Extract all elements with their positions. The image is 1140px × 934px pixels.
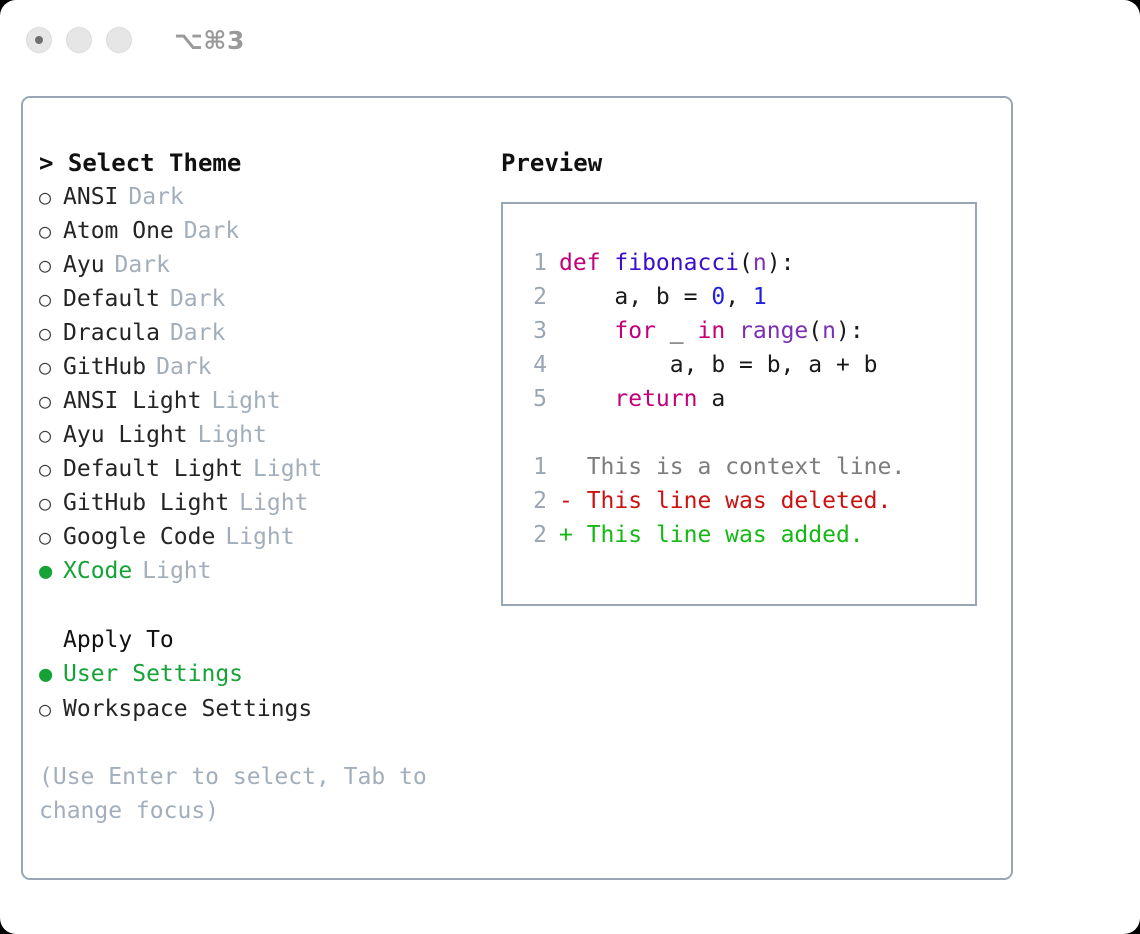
theme-name-label: Default	[63, 282, 160, 316]
radio-selected-icon: ●	[39, 658, 63, 692]
radio-unselected-icon: ○	[39, 384, 63, 418]
title-bar: ⌥⌘3	[0, 0, 1140, 80]
line-number: 2	[517, 518, 547, 552]
radio-unselected-icon: ○	[39, 248, 63, 282]
radio-selected-icon: ●	[39, 555, 63, 589]
line-number: 2	[517, 280, 547, 314]
theme-variant-tag: Light	[239, 486, 308, 520]
theme-variant-tag: Dark	[128, 180, 183, 214]
token-plain	[725, 318, 739, 344]
theme-list[interactable]: ○ANSIDark○Atom OneDark○AyuDark○DefaultDa…	[39, 180, 499, 589]
theme-row-github-light[interactable]: ○GitHub LightLight	[39, 486, 499, 520]
code-line: 3 for _ in range(n):	[517, 314, 975, 348]
radio-unselected-icon: ○	[39, 316, 63, 350]
theme-row-atom-one[interactable]: ○Atom OneDark	[39, 214, 499, 248]
theme-name-label: Dracula	[63, 316, 160, 350]
theme-variant-tag: Light	[253, 452, 322, 486]
line-number: 1	[517, 450, 547, 484]
token-pun: ):	[767, 250, 795, 276]
diff-line-text: This line was added.	[587, 518, 864, 552]
window-light-2[interactable]	[66, 27, 92, 53]
line-number: 3	[517, 314, 547, 348]
preview-column: Preview 1def fibonacci(n):2 a, b = 0, 13…	[501, 146, 1001, 606]
theme-variant-tag: Light	[211, 384, 280, 418]
theme-variant-tag: Dark	[156, 350, 211, 384]
radio-unselected-icon: ○	[39, 452, 63, 486]
token-kw: in	[697, 318, 725, 344]
token-plain: ,	[725, 284, 753, 310]
token-plain: _	[656, 318, 698, 344]
theme-row-google-code[interactable]: ○Google CodeLight	[39, 520, 499, 554]
theme-name-label: Ayu Light	[63, 418, 188, 452]
theme-variant-tag: Dark	[170, 282, 225, 316]
apply-to-title: Apply To	[39, 623, 499, 657]
token-plain	[559, 318, 614, 344]
diff-preview: 1 This is a context line.2- This line wa…	[517, 450, 975, 552]
window-light-3[interactable]	[106, 27, 132, 53]
radio-unselected-icon: ○	[39, 692, 63, 726]
token-pun: (	[739, 250, 753, 276]
apply-to-list[interactable]: ●User Settings○Workspace Settings	[39, 657, 499, 726]
token-kw: for	[614, 318, 656, 344]
code-line: 5 return a	[517, 382, 975, 416]
theme-name-label: ANSI Light	[63, 384, 201, 418]
radio-unselected-icon: ○	[39, 282, 63, 316]
theme-name-label: Ayu	[63, 248, 105, 282]
theme-row-default[interactable]: ○DefaultDark	[39, 282, 499, 316]
spacer	[517, 416, 975, 450]
theme-name-label: ANSI	[63, 180, 118, 214]
code-line-text: a, b = b, a + b	[559, 348, 878, 382]
diff-line-text: This line was deleted.	[587, 484, 892, 518]
code-line-text: for _ in range(n):	[559, 314, 864, 348]
diff-line-text: This is a context line.	[587, 450, 906, 484]
line-number: 5	[517, 382, 547, 416]
code-preview: 1def fibonacci(n):2 a, b = 0, 13 for _ i…	[517, 246, 975, 416]
radio-unselected-icon: ○	[39, 486, 63, 520]
theme-row-xcode[interactable]: ●XCodeLight	[39, 554, 499, 589]
apply-to-row-workspace-settings[interactable]: ○Workspace Settings	[39, 692, 499, 726]
app-window: ⌥⌘3 > Select Theme ○ANSIDark○Atom OneDar…	[0, 0, 1140, 934]
theme-name-label: Atom One	[63, 214, 174, 248]
token-plain	[559, 386, 614, 412]
line-number: 1	[517, 246, 547, 280]
diff-line-del: 2- This line was deleted.	[517, 484, 975, 518]
radio-unselected-icon: ○	[39, 418, 63, 452]
apply-to-label: Workspace Settings	[63, 692, 312, 726]
radio-unselected-icon: ○	[39, 350, 63, 384]
panel-columns: > Select Theme ○ANSIDark○Atom OneDark○Ay…	[23, 98, 1011, 878]
theme-row-ansi-light[interactable]: ○ANSI LightLight	[39, 384, 499, 418]
theme-name-label: XCode	[63, 554, 132, 588]
window-controls	[26, 27, 132, 53]
token-plain: a, b =	[559, 284, 711, 310]
apply-to-label: User Settings	[63, 657, 243, 691]
token-kw: def	[559, 250, 614, 276]
theme-row-ayu-light[interactable]: ○Ayu LightLight	[39, 418, 499, 452]
code-line-text: def fibonacci(n):	[559, 246, 794, 280]
diff-marker-icon: +	[559, 518, 587, 552]
token-pun: ):	[836, 318, 864, 344]
token-var: n	[753, 250, 767, 276]
theme-name-label: Default Light	[63, 452, 243, 486]
token-plain: a, b = b, a + b	[559, 352, 878, 378]
code-line: 4 a, b = b, a + b	[517, 348, 975, 382]
keyboard-hint-text: (Use Enter to select, Tab to change focu…	[39, 760, 439, 828]
preview-box: 1def fibonacci(n):2 a, b = 0, 13 for _ i…	[501, 202, 977, 606]
theme-variant-tag: Light	[142, 554, 211, 588]
theme-row-dracula[interactable]: ○DraculaDark	[39, 316, 499, 350]
theme-name-label: GitHub Light	[63, 486, 229, 520]
theme-name-label: GitHub	[63, 350, 146, 384]
line-number: 2	[517, 484, 547, 518]
token-plain: a	[697, 386, 725, 412]
token-pun: (	[808, 318, 822, 344]
theme-row-ayu[interactable]: ○AyuDark	[39, 248, 499, 282]
token-num: 1	[753, 284, 767, 310]
token-var: range	[739, 318, 808, 344]
code-line-text: a, b = 0, 1	[559, 280, 767, 314]
radio-unselected-icon: ○	[39, 214, 63, 248]
token-num: 0	[711, 284, 725, 310]
apply-to-row-user-settings[interactable]: ●User Settings	[39, 657, 499, 692]
code-line: 2 a, b = 0, 1	[517, 280, 975, 314]
theme-variant-tag: Light	[225, 520, 294, 554]
spacer	[39, 589, 499, 623]
theme-row-github[interactable]: ○GitHubDark	[39, 350, 499, 384]
theme-variant-tag: Dark	[170, 316, 225, 350]
theme-row-default-light[interactable]: ○Default LightLight	[39, 452, 499, 486]
radio-unselected-icon: ○	[39, 520, 63, 554]
main-panel: > Select Theme ○ANSIDark○Atom OneDark○Ay…	[21, 96, 1013, 880]
token-var: n	[822, 318, 836, 344]
theme-variant-tag: Light	[198, 418, 267, 452]
radio-unselected-icon: ○	[39, 180, 63, 214]
theme-variant-tag: Dark	[184, 214, 239, 248]
record-dot-icon	[35, 36, 43, 44]
token-fn: fibonacci	[614, 250, 739, 276]
theme-list-title: > Select Theme	[39, 146, 499, 180]
diff-line-context: 1 This is a context line.	[517, 450, 975, 484]
theme-selector-column: > Select Theme ○ANSIDark○Atom OneDark○Ay…	[39, 146, 499, 828]
code-line-text: return a	[559, 382, 725, 416]
code-line: 1def fibonacci(n):	[517, 246, 975, 280]
token-kw: return	[614, 386, 697, 412]
diff-marker-icon: -	[559, 484, 587, 518]
theme-variant-tag: Dark	[115, 248, 170, 282]
preview-title: Preview	[501, 146, 1001, 180]
diff-marker-icon	[559, 450, 587, 484]
keyboard-shortcut-label: ⌥⌘3	[174, 26, 245, 55]
recording-indicator-light[interactable]	[26, 27, 52, 53]
diff-line-add: 2+ This line was added.	[517, 518, 975, 552]
line-number: 4	[517, 348, 547, 382]
theme-name-label: Google Code	[63, 520, 215, 554]
theme-row-ansi[interactable]: ○ANSIDark	[39, 180, 499, 214]
